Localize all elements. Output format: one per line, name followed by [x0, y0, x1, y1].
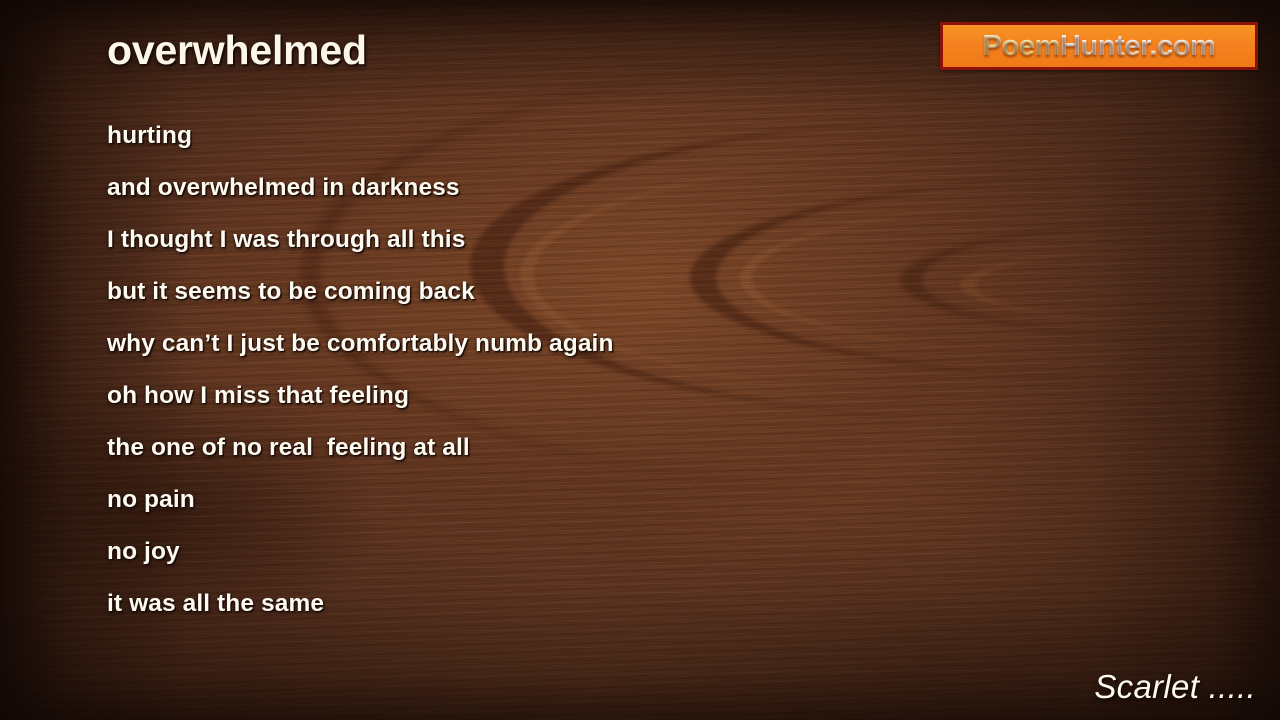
poem-line: hurting — [107, 110, 1187, 162]
logo-wordmark: PoemHunter.com — [983, 32, 1216, 61]
poem-image-card: PoemHunter.com overwhelmed hurting and o… — [0, 0, 1280, 720]
poem-line: but it seems to be coming back — [107, 266, 1187, 318]
poem-line: oh how I miss that feeling — [107, 370, 1187, 422]
poem-line: the one of no real feeling at all — [107, 422, 1187, 474]
poem-line: why can’t I just be comfortably numb aga… — [107, 318, 1187, 370]
poem-title: overwhelmed — [107, 28, 367, 74]
poemhunter-logo[interactable]: PoemHunter.com — [940, 22, 1258, 70]
poem-line: no joy — [107, 526, 1187, 578]
poem-line: I thought I was through all this — [107, 214, 1187, 266]
poem-line: no pain — [107, 474, 1187, 526]
poem-author-signature: Scarlet ..... — [1094, 668, 1256, 706]
poem-line: and overwhelmed in darkness — [107, 162, 1187, 214]
poem-body: hurting and overwhelmed in darkness I th… — [107, 110, 1187, 630]
logo-text-poem: Poem — [983, 30, 1060, 62]
logo-text-hunter: Hunter.com — [1060, 30, 1216, 62]
poem-line: it was all the same — [107, 578, 1187, 630]
